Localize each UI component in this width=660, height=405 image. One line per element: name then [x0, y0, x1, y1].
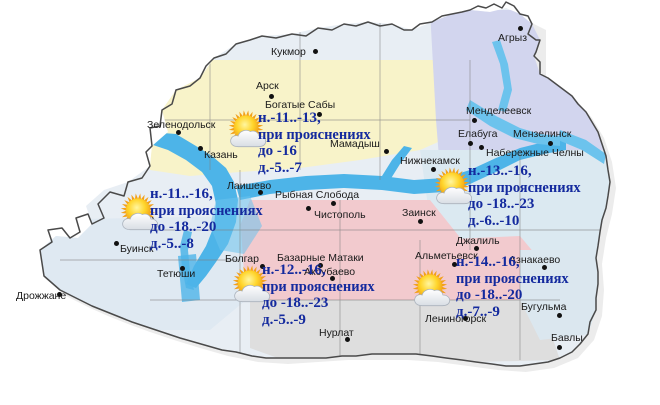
forecast-line: н.-14..-16, — [456, 254, 569, 271]
city-dot — [468, 141, 473, 146]
city-dot — [472, 118, 477, 123]
forecast-line: н.-12..-16, — [262, 262, 375, 279]
forecast-block: н.-14..-16,при проясненияхдо -18..-20д.-… — [456, 254, 569, 321]
weather-map-tatarstan: КукморАгрызАрскБогатые СабыМенделеевскЗе… — [0, 0, 660, 405]
forecast-line: н.-11..-16, — [150, 186, 263, 203]
forecast-line: до -18..-23 — [262, 295, 375, 312]
forecast-line: при прояснениях — [456, 271, 569, 287]
city-dot — [313, 49, 318, 54]
forecast-line: при прояснениях — [468, 180, 581, 196]
forecast-line: при прояснениях — [150, 203, 263, 219]
city-label: Богатые Сабы — [265, 100, 335, 111]
city-dot — [548, 141, 553, 146]
city-dot — [180, 266, 185, 271]
forecast-line: д.-6..-10 — [468, 213, 581, 230]
city-dot — [57, 292, 62, 297]
city-dot — [176, 130, 181, 135]
city-label: Бавлы — [551, 333, 583, 344]
city-dot — [418, 219, 423, 224]
forecast-block: н.-11..-16,при проясненияхдо -18..-20д.-… — [150, 186, 263, 253]
forecast-line: д.-7..-9 — [456, 304, 569, 321]
city-label: Елабуга — [458, 129, 497, 140]
city-dot — [474, 246, 479, 251]
forecast-line: до -16 — [258, 143, 371, 160]
city-dot — [198, 146, 203, 151]
forecast-line: д.-5..-7 — [258, 160, 371, 177]
city-dot — [384, 149, 389, 154]
forecast-line: н.-13..-16, — [468, 163, 581, 180]
city-dot — [557, 345, 562, 350]
city-label: Менделеевск — [466, 106, 531, 117]
city-dot — [331, 201, 336, 206]
sun-cloud-icon — [402, 262, 458, 323]
forecast-block: н.-12..-16,при проясненияхдо -18..-23д.-… — [262, 262, 375, 329]
forecast-line: н.-11..-13, — [258, 110, 371, 127]
forecast-line: до -18..-20 — [150, 219, 263, 236]
city-label: Кукмор — [271, 47, 306, 58]
forecast-line: при прояснениях — [262, 279, 375, 295]
forecast-line: до -18..-23 — [468, 196, 581, 213]
forecast-block: н.-13..-16,при проясненияхдо -18..-23д.-… — [468, 163, 581, 230]
city-label: Мензелинск — [513, 129, 571, 140]
city-label: Арск — [256, 81, 279, 92]
city-dot — [518, 26, 523, 31]
city-dot — [306, 206, 311, 211]
forecast-line: д.-5..-9 — [262, 312, 375, 329]
city-dot — [345, 337, 350, 342]
forecast-block: н.-11..-13,при проясненияхдо -16д.-5..-7 — [258, 110, 371, 177]
forecast-line: при прояснениях — [258, 127, 371, 143]
forecast-line: д.-5..-8 — [150, 236, 263, 253]
city-dot — [479, 145, 484, 150]
city-label: Рыбная Слобода — [275, 190, 359, 201]
city-label: Джалиль — [456, 236, 500, 247]
city-label: Тетюши — [157, 269, 195, 280]
city-label: Чистополь — [314, 210, 366, 221]
city-label: Набережные Челны — [486, 148, 584, 159]
city-label: Зеленодольск — [147, 120, 215, 131]
city-label: Агрыз — [498, 33, 527, 44]
forecast-line: до -18..-20 — [456, 287, 569, 304]
